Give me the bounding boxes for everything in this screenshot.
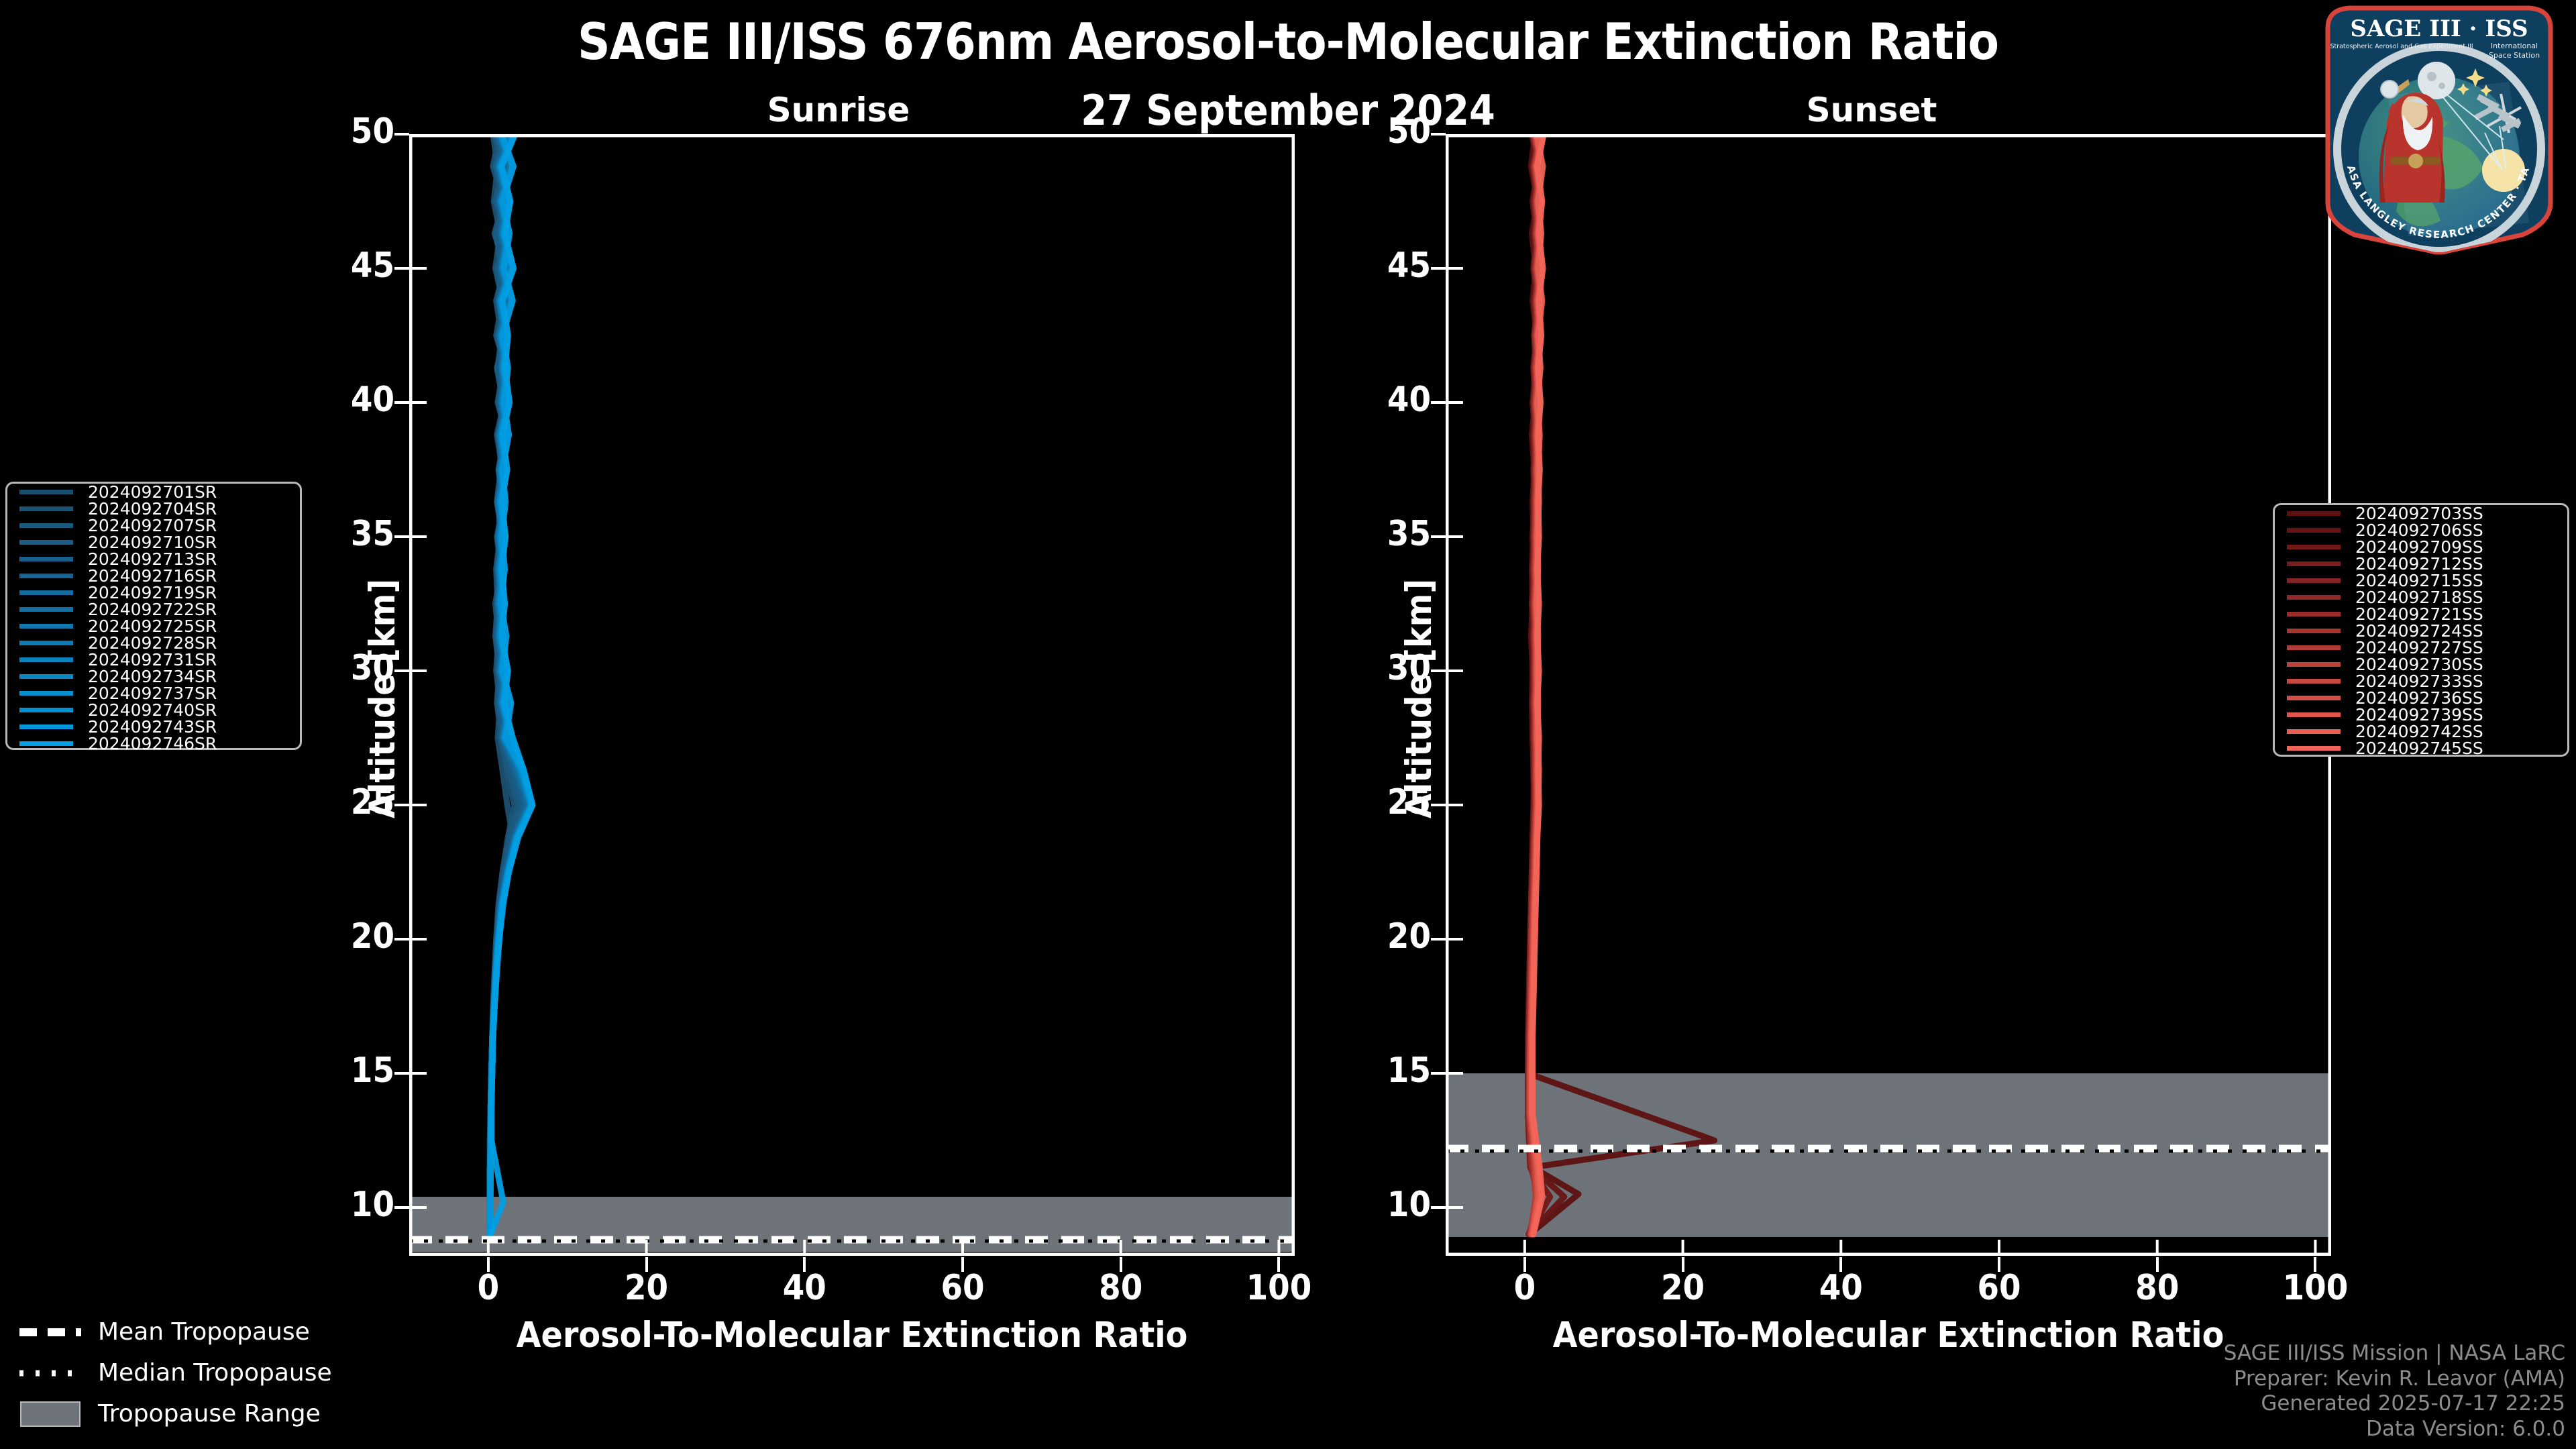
x-tick-label: 40 <box>751 1268 858 1308</box>
panel-heading-sunset: Sunset <box>1637 91 2106 129</box>
legend-color-swatch <box>19 607 73 612</box>
legend-item[interactable]: 2024092703SS <box>2275 505 2567 522</box>
legend-color-swatch <box>19 641 73 645</box>
legend-color-swatch <box>2287 712 2341 717</box>
plot-sunset <box>1446 134 2331 1256</box>
legend-item[interactable]: 2024092701SR <box>7 484 300 500</box>
y-tick-label: 35 <box>294 514 394 554</box>
y-tick-label: 30 <box>1330 648 1431 688</box>
panel-heading-sunrise: Sunrise <box>604 91 1073 129</box>
legend-item[interactable]: 2024092716SR <box>7 568 300 584</box>
credits-line: Data Version: 6.0.0 <box>2224 1417 2565 1442</box>
legend-item[interactable]: 2024092713SR <box>7 551 300 568</box>
logo-subtitle-right-2: Space Station <box>2489 51 2540 60</box>
y-tick-label: 50 <box>294 111 394 152</box>
legend-item[interactable]: 2024092725SR <box>7 618 300 635</box>
tropopause-legend-item[interactable]: Mean Tropopause <box>13 1311 389 1352</box>
legend-item[interactable]: 2024092724SS <box>2275 623 2567 639</box>
y-tick-mark <box>394 1072 409 1075</box>
legend-item[interactable]: 2024092740SR <box>7 702 300 718</box>
legend-color-swatch <box>19 557 73 561</box>
legend-color-swatch <box>19 624 73 629</box>
legend-item[interactable]: 2024092737SR <box>7 685 300 702</box>
plot-area-sunrise <box>409 134 1295 1256</box>
legend-color-swatch <box>2287 696 2341 700</box>
legend-color-swatch <box>19 741 73 746</box>
x-axis-label-sunset: Aerosol-To-Molecular Extinction Ratio <box>1446 1315 2331 1356</box>
x-tick-mark <box>2156 1257 2159 1272</box>
legend-color-swatch <box>19 590 73 595</box>
legend-color-swatch <box>2287 729 2341 734</box>
legend-item-label: 2024092745SS <box>2355 739 2483 758</box>
legend-color-swatch <box>2287 629 2341 633</box>
credits-line: Preparer: Kevin R. Leavor (AMA) <box>2224 1366 2565 1392</box>
legend-tropopause: Mean TropopauseMedian TropopauseTropopau… <box>13 1311 389 1434</box>
tropopause-range-band <box>1446 1073 2331 1237</box>
legend-item[interactable]: 2024092709SS <box>2275 539 2567 555</box>
page-title: SAGE III/ISS 676nm Aerosol-to-Molecular … <box>0 12 2576 71</box>
legend-color-swatch <box>2287 578 2341 583</box>
legend-item[interactable]: 2024092710SR <box>7 534 300 551</box>
x-tick-label: 40 <box>1787 1268 1894 1308</box>
x-tick-mark <box>1523 1257 1526 1272</box>
x-tick-label: 20 <box>1629 1268 1737 1308</box>
legend-item-label: 2024092746SR <box>88 734 217 753</box>
y-tick-label: 25 <box>294 782 394 822</box>
median-tropopause-swatch <box>13 1366 87 1380</box>
x-tick-label: 0 <box>435 1268 542 1308</box>
legend-color-swatch <box>2287 746 2341 751</box>
legend-item[interactable]: 2024092719SR <box>7 584 300 601</box>
credits-line: Generated 2025-07-17 22:25 <box>2224 1391 2565 1417</box>
legend-item[interactable]: 2024092727SS <box>2275 639 2567 656</box>
y-tick-label: 40 <box>1330 380 1431 420</box>
legend-item[interactable]: 2024092745SS <box>2275 740 2567 757</box>
x-tick-mark <box>1682 1257 1684 1272</box>
legend-item[interactable]: 2024092718SS <box>2275 589 2567 606</box>
moon-icon <box>2418 62 2455 99</box>
y-tick-mark <box>394 535 409 538</box>
x-tick-label: 80 <box>2104 1268 2211 1308</box>
y-tick-mark <box>394 267 409 270</box>
x-tick-mark <box>803 1257 806 1272</box>
legend-color-swatch <box>19 657 73 662</box>
legend-color-swatch <box>19 523 73 528</box>
legend-item[interactable]: 2024092722SR <box>7 601 300 618</box>
y-tick-label: 35 <box>1330 514 1431 554</box>
legend-color-swatch <box>2287 645 2341 650</box>
legend-color-swatch <box>2287 662 2341 667</box>
legend-item[interactable]: 2024092743SR <box>7 718 300 735</box>
sage-iii-iss-logo: SAGE III · ISS Stratospheric Aerosol and… <box>2308 1 2569 256</box>
plot-area-sunset <box>1446 134 2331 1256</box>
x-tick-mark <box>1120 1257 1122 1272</box>
legend-color-swatch <box>2287 528 2341 533</box>
legend-color-swatch <box>2287 595 2341 600</box>
x-axis-label-sunrise: Aerosol-To-Molecular Extinction Ratio <box>409 1315 1295 1356</box>
legend-item[interactable]: 2024092707SR <box>7 517 300 534</box>
tropopause-legend-label: Mean Tropopause <box>98 1318 310 1346</box>
legend-color-swatch <box>19 574 73 578</box>
tropopause-legend-label: Tropopause Range <box>98 1400 321 1428</box>
legend-sunset: 2024092703SS2024092706SS2024092709SS2024… <box>2273 503 2569 757</box>
legend-color-swatch <box>19 506 73 511</box>
y-tick-mark <box>1431 669 1446 672</box>
x-tick-mark <box>1839 1257 1842 1272</box>
legend-item[interactable]: 2024092731SR <box>7 651 300 668</box>
legend-color-swatch <box>19 490 73 494</box>
y-tick-label: 20 <box>1330 916 1431 957</box>
y-tick-mark <box>394 804 409 806</box>
tropopause-legend-label: Median Tropopause <box>98 1359 332 1387</box>
legend-item[interactable]: 2024092715SS <box>2275 572 2567 589</box>
x-tick-label: 100 <box>2261 1268 2369 1308</box>
x-tick-label: 0 <box>1471 1268 1578 1308</box>
x-tick-label: 20 <box>593 1268 700 1308</box>
x-tick-mark <box>1277 1257 1280 1272</box>
legend-item[interactable]: 2024092746SR <box>7 735 300 752</box>
legend-color-swatch <box>2287 679 2341 684</box>
legend-item[interactable]: 2024092739SS <box>2275 706 2567 723</box>
tropopause-legend-item[interactable]: Tropopause Range <box>13 1393 389 1434</box>
legend-item[interactable]: 2024092706SS <box>2275 522 2567 539</box>
figure-canvas: SAGE III/ISS 676nm Aerosol-to-Molecular … <box>0 0 2576 1449</box>
y-tick-mark <box>394 401 409 404</box>
y-tick-label: 10 <box>294 1185 394 1225</box>
y-tick-mark <box>394 669 409 672</box>
y-tick-mark <box>1431 133 1446 136</box>
legend-item[interactable]: 2024092734SR <box>7 668 300 685</box>
tropopause-range-band <box>409 1197 1295 1252</box>
legend-item[interactable]: 2024092712SS <box>2275 555 2567 572</box>
y-tick-label: 25 <box>1330 782 1431 822</box>
y-tick-mark <box>1431 804 1446 806</box>
x-tick-label: 80 <box>1067 1268 1175 1308</box>
legend-item[interactable]: 2024092736SS <box>2275 690 2567 706</box>
y-tick-mark <box>1431 1206 1446 1209</box>
legend-color-swatch <box>2287 511 2341 516</box>
y-tick-label: 45 <box>294 246 394 286</box>
y-tick-mark <box>394 1206 409 1209</box>
legend-color-swatch <box>19 691 73 696</box>
x-tick-label: 100 <box>1225 1268 1332 1308</box>
y-tick-label: 45 <box>1330 246 1431 286</box>
y-tick-mark <box>1431 1072 1446 1075</box>
x-tick-mark <box>1998 1257 2000 1272</box>
logo-title: SAGE III · ISS <box>2350 15 2528 42</box>
x-tick-mark <box>487 1257 490 1272</box>
x-tick-label: 60 <box>1945 1268 2053 1308</box>
legend-item[interactable]: 2024092733SS <box>2275 673 2567 690</box>
legend-item[interactable]: 2024092721SS <box>2275 606 2567 623</box>
x-tick-label: 60 <box>909 1268 1016 1308</box>
y-tick-label: 15 <box>1330 1051 1431 1091</box>
legend-color-swatch <box>19 540 73 545</box>
tropopause-range-swatch <box>13 1401 87 1427</box>
logo-subtitle-left: Stratospheric Aerosol and Gas Experiment… <box>2330 43 2473 50</box>
credits-line: SAGE III/ISS Mission | NASA LaRC <box>2224 1341 2565 1366</box>
x-tick-mark <box>645 1257 648 1272</box>
legend-item[interactable]: 2024092728SR <box>7 635 300 651</box>
y-tick-label: 20 <box>294 916 394 957</box>
legend-item[interactable]: 2024092730SS <box>2275 656 2567 673</box>
legend-item[interactable]: 2024092742SS <box>2275 723 2567 740</box>
legend-item[interactable]: 2024092704SR <box>7 500 300 517</box>
y-tick-mark <box>1431 938 1446 941</box>
y-tick-mark <box>394 938 409 941</box>
legend-color-swatch <box>19 724 73 729</box>
plot-background <box>409 134 1295 1256</box>
y-tick-label: 30 <box>294 648 394 688</box>
y-tick-mark <box>1431 267 1446 270</box>
y-tick-mark <box>394 133 409 136</box>
legend-sunrise: 2024092701SR2024092704SR2024092707SR2024… <box>5 482 302 750</box>
tropopause-legend-item[interactable]: Median Tropopause <box>13 1352 389 1393</box>
legend-color-swatch <box>2287 561 2341 566</box>
legend-color-swatch <box>2287 612 2341 616</box>
y-tick-label: 40 <box>294 380 394 420</box>
y-tick-label: 50 <box>1330 111 1431 152</box>
mean-tropopause-swatch <box>13 1326 87 1339</box>
legend-color-swatch <box>19 674 73 679</box>
logo-subtitle-right-1: International <box>2491 42 2538 50</box>
credits-block: SAGE III/ISS Mission | NASA LaRCPreparer… <box>2224 1341 2565 1442</box>
legend-color-swatch <box>19 708 73 712</box>
y-tick-label: 10 <box>1330 1185 1431 1225</box>
x-tick-mark <box>2314 1257 2316 1272</box>
y-tick-label: 15 <box>294 1051 394 1091</box>
plot-sunrise <box>409 134 1295 1256</box>
legend-color-swatch <box>2287 545 2341 549</box>
x-tick-mark <box>961 1257 964 1272</box>
y-tick-mark <box>1431 535 1446 538</box>
y-tick-mark <box>1431 401 1446 404</box>
